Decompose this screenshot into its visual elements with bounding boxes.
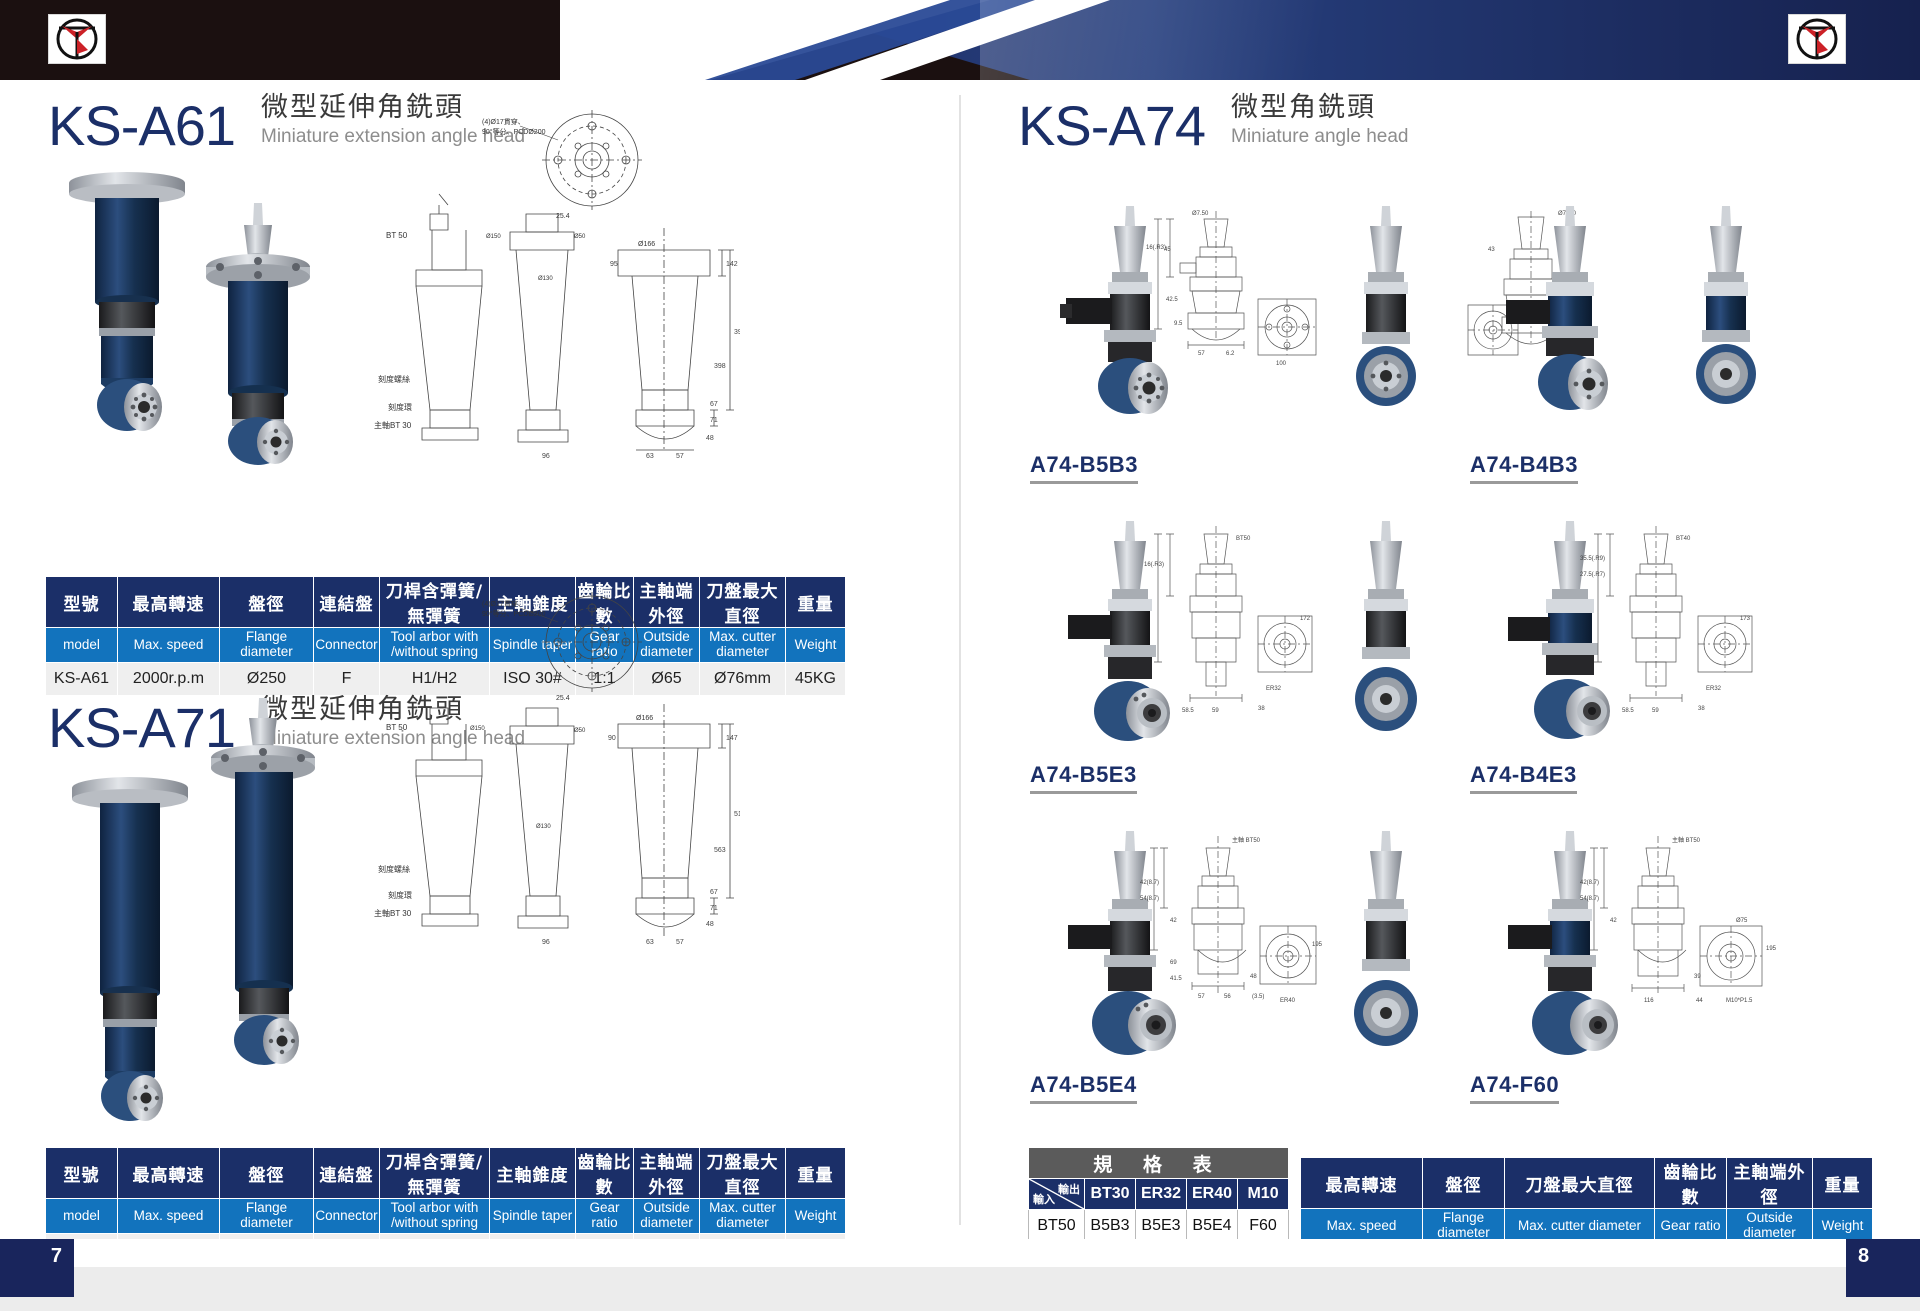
spec-value: 45KG xyxy=(786,663,846,696)
svg-text:90°等分、PCDØ200: 90°等分、PCDØ200 xyxy=(482,127,546,136)
spec-header-cn: 盤徑 xyxy=(220,577,314,628)
svg-text:16(.R3): 16(.R3) xyxy=(1144,562,1164,568)
spec-header-en: Spindle taper xyxy=(490,1199,576,1234)
spec-header-cn: 盤徑 xyxy=(220,1148,314,1199)
svg-text:563: 563 xyxy=(714,847,726,854)
svg-text:71: 71 xyxy=(710,905,718,912)
svg-text:38: 38 xyxy=(1698,706,1705,712)
page-divider xyxy=(959,95,961,1225)
svg-text:67: 67 xyxy=(710,889,718,896)
svg-text:刻度螺絲: 刻度螺絲 xyxy=(378,374,410,384)
spec-header-cn: 最高轉速 xyxy=(118,1148,220,1199)
svg-text:BT 50: BT 50 xyxy=(386,231,408,240)
svg-text:主軸 BT50: 主軸 BT50 xyxy=(1232,836,1261,844)
variant-label-a74-b5b3: A74-B5B3 xyxy=(1030,452,1138,484)
svg-text:27.5(.R7): 27.5(.R7) xyxy=(1580,572,1605,578)
spec-header-cn: 重量 xyxy=(786,577,846,628)
svg-text:Ø50: Ø50 xyxy=(574,234,586,240)
svg-text:67: 67 xyxy=(710,401,718,408)
spec-header-cn: 主軸錐度 xyxy=(490,1148,576,1199)
svg-text:主軸BT 30: 主軸BT 30 xyxy=(374,420,412,430)
technical-drawing-a71: (4)Ø17貫穿、 90°等分、PCDØ200 25.4 BT 50 Ø150 … xyxy=(370,590,740,950)
svg-text:Ø166: Ø166 xyxy=(636,715,653,722)
svg-text:54(8.7): 54(8.7) xyxy=(1140,896,1159,902)
matrix-col-header: ER40 xyxy=(1187,1179,1238,1210)
spec-header-cn-row: 最高轉速 盤徑 刀盤最大直徑 齒輪比數 主軸端外徑 重量 xyxy=(1301,1158,1873,1209)
spec-header-cn: 連結盤 xyxy=(314,1148,380,1199)
svg-text:116: 116 xyxy=(1644,998,1654,1004)
svg-text:195: 195 xyxy=(1312,942,1323,948)
spec-header-en: Flange diameter xyxy=(220,628,314,663)
svg-text:ER32: ER32 xyxy=(1706,686,1722,692)
svg-text:42.5: 42.5 xyxy=(1166,297,1178,303)
svg-text:BT50: BT50 xyxy=(1236,536,1251,542)
spec-header-cn: 最高轉速 xyxy=(118,577,220,628)
svg-text:515: 515 xyxy=(734,811,740,818)
svg-text:25.4: 25.4 xyxy=(556,695,570,702)
svg-text:96: 96 xyxy=(542,453,550,460)
svg-text:71: 71 xyxy=(710,417,718,424)
page-number-right: 8 xyxy=(1846,1239,1920,1297)
matrix-col-header: ER32 xyxy=(1136,1179,1187,1210)
spec-header-cn: 刀盤最大直徑 xyxy=(700,1148,786,1199)
svg-text:Ø166: Ø166 xyxy=(638,241,655,248)
matrix-title: 規 格 表 xyxy=(1029,1148,1289,1179)
spec-header-en: Weight xyxy=(786,628,846,663)
variant-label-a74-b5e3: A74-B5E3 xyxy=(1030,762,1137,794)
svg-text:95: 95 xyxy=(610,261,618,268)
spec-header-en: model xyxy=(46,1199,118,1234)
svg-text:48: 48 xyxy=(706,921,714,928)
footer-strip xyxy=(0,1267,1920,1311)
svg-text:(3.5): (3.5) xyxy=(1252,994,1264,1000)
variant-label-a74-f60: A74-F60 xyxy=(1470,1072,1559,1104)
svg-text:57: 57 xyxy=(1198,351,1205,357)
product-photo-a74-b5e4-side xyxy=(1330,825,1440,1070)
svg-text:172: 172 xyxy=(1300,616,1311,622)
svg-text:Ø150: Ø150 xyxy=(486,234,501,240)
svg-text:ER40: ER40 xyxy=(1280,998,1296,1004)
spec-header-en: Max. cutter diameter xyxy=(700,1199,786,1234)
variant-label-a74-b5e4: A74-B5E4 xyxy=(1030,1072,1137,1104)
spec-header-cn: 型號 xyxy=(46,1148,118,1199)
spec-header-en: Max. speed xyxy=(118,628,220,663)
header-gloss xyxy=(980,0,1600,80)
svg-text:63: 63 xyxy=(646,453,654,460)
variant-label-a74-b4b3: A74-B4B3 xyxy=(1470,452,1578,484)
spec-header-en: Outside diameter xyxy=(634,1199,700,1234)
svg-text:195: 195 xyxy=(1766,946,1777,952)
product-code: KS-A74 xyxy=(1018,98,1205,154)
spec-header-en: Flange diameter xyxy=(220,1199,314,1234)
matrix-cell: F60 xyxy=(1238,1210,1289,1242)
svg-text:主軸 BT50: 主軸 BT50 xyxy=(1672,836,1701,844)
svg-text:54(8.7): 54(8.7) xyxy=(1580,896,1599,902)
spec-header-en-row: model Max. speed Flange diameter Connect… xyxy=(46,1199,846,1234)
matrix-cell: B5B3 xyxy=(1085,1210,1136,1242)
svg-text:(4)Ø17貫穿、: (4)Ø17貫穿、 xyxy=(482,117,525,126)
matrix-col-header: M10 xyxy=(1238,1179,1289,1210)
spec-header-cn: 齒輪比數 xyxy=(576,1148,634,1199)
matrix-corner-out: 輸出 xyxy=(1058,1181,1080,1197)
spec-header-en: Gear ratio xyxy=(576,1199,634,1234)
spec-header-cn: 齒輪比數 xyxy=(1655,1158,1727,1209)
product-photo-a74-b5b3-side xyxy=(1330,200,1440,435)
product-photo-a71-angled xyxy=(185,690,350,1110)
spec-value: KS-A61 xyxy=(46,663,118,696)
svg-text:63: 63 xyxy=(646,939,654,946)
spec-header-cn: 刀桿含彈簧/無彈簧 xyxy=(380,1148,490,1199)
svg-text:ER32: ER32 xyxy=(1266,686,1282,692)
matrix-corner-cell: 輸出 輸入 xyxy=(1029,1179,1085,1210)
svg-text:48: 48 xyxy=(706,435,714,442)
spec-header-cn: 主軸端外徑 xyxy=(634,1148,700,1199)
company-logo-icon xyxy=(52,16,102,62)
svg-text:42: 42 xyxy=(1610,918,1617,924)
svg-text:57: 57 xyxy=(676,939,684,946)
matrix-cell: B5E3 xyxy=(1136,1210,1187,1242)
svg-text:Ø130: Ø130 xyxy=(536,824,551,830)
svg-text:56: 56 xyxy=(1224,994,1231,1000)
svg-text:(4)Ø17貫穿、: (4)Ø17貫穿、 xyxy=(482,599,525,608)
spec-header-en: Max. speed xyxy=(118,1199,220,1234)
svg-text:59: 59 xyxy=(1212,708,1219,714)
svg-text:38: 38 xyxy=(1258,706,1265,712)
company-logo-left xyxy=(48,14,106,64)
svg-text:58.5: 58.5 xyxy=(1622,708,1634,714)
spec-header-en: Tool arbor with /without spring xyxy=(380,1199,490,1234)
svg-text:69: 69 xyxy=(1170,960,1177,966)
svg-text:BT 50: BT 50 xyxy=(386,723,408,732)
svg-text:刻度螺絲: 刻度螺絲 xyxy=(378,864,410,874)
svg-text:Ø75: Ø75 xyxy=(1736,918,1748,924)
svg-text:刻度環: 刻度環 xyxy=(388,402,412,412)
spec-header-en: Weight xyxy=(786,1199,846,1234)
svg-text:42: 42 xyxy=(1170,918,1177,924)
svg-text:142: 142 xyxy=(726,261,738,268)
svg-text:398: 398 xyxy=(714,363,726,370)
svg-text:9.5: 9.5 xyxy=(1174,321,1183,327)
spec-header-cn: 盤徑 xyxy=(1423,1158,1505,1209)
spec-header-cn: 主軸端外徑 xyxy=(1727,1158,1813,1209)
svg-text:48: 48 xyxy=(1250,974,1257,980)
svg-text:57: 57 xyxy=(676,453,684,460)
svg-text:39: 39 xyxy=(1694,974,1701,980)
svg-text:45: 45 xyxy=(1164,247,1171,253)
svg-text:44: 44 xyxy=(1696,998,1703,1004)
header-band xyxy=(0,0,1920,80)
svg-text:42(8.7): 42(8.7) xyxy=(1580,880,1599,886)
company-logo-icon xyxy=(1792,16,1842,62)
svg-text:Ø150: Ø150 xyxy=(470,726,485,732)
product-heading-ks-a74: KS-A74 微型角銑頭 Miniature angle head xyxy=(1018,92,1408,154)
svg-text:96: 96 xyxy=(542,939,550,946)
spec-header-cn: 重量 xyxy=(786,1148,846,1199)
spec-header-cn: 最高轉速 xyxy=(1301,1158,1423,1209)
svg-text:59: 59 xyxy=(1652,708,1659,714)
spec-header-cn: 重量 xyxy=(1813,1158,1873,1209)
svg-text:25.4: 25.4 xyxy=(556,213,570,220)
product-photo-a74-b4b3 xyxy=(1470,200,1660,435)
technical-drawing-a74-b5e4: 主軸 BT50 42(8.7) 54(8.7) 42 69 41.5 48 57… xyxy=(1140,830,1330,1075)
svg-text:390: 390 xyxy=(734,329,740,336)
svg-text:Ø130: Ø130 xyxy=(538,276,553,282)
footer-bar: 7 8 xyxy=(0,1239,1920,1311)
spec-header-cn-row: 型號 最高轉速 盤徑 連結盤 刀桿含彈簧/無彈簧 主軸錐度 齒輪比數 主軸端外徑… xyxy=(46,1148,846,1199)
svg-text:Ø7.50: Ø7.50 xyxy=(1192,211,1209,217)
variant-label-a74-b4e3: A74-B4E3 xyxy=(1470,762,1577,794)
table-row: BT50 B5B3 B5E3 B5E4 F60 xyxy=(1029,1210,1289,1242)
product-name-en: Miniature angle head xyxy=(1231,125,1408,150)
svg-text:BT40: BT40 xyxy=(1676,536,1691,542)
svg-text:6.2: 6.2 xyxy=(1226,351,1235,357)
svg-text:173: 173 xyxy=(1740,616,1751,622)
matrix-row-label: BT50 xyxy=(1029,1210,1085,1242)
product-photo-a61-angled xyxy=(180,195,345,465)
svg-text:35.5(.R9): 35.5(.R9) xyxy=(1580,556,1605,562)
technical-drawing-a61: (4)Ø17貫穿、 90°等分、PCDØ200 25.4 BT 50 Ø150 … xyxy=(370,110,740,460)
svg-text:Ø50: Ø50 xyxy=(574,728,586,734)
product-name-cn: 微型角銑頭 xyxy=(1231,92,1408,123)
technical-drawing-a74-b5b3: Ø7.50 16(.R3) 45 42.5 9.5 57 6.2 100 xyxy=(1140,205,1330,435)
spec-header-en: model xyxy=(46,628,118,663)
page-number-left: 7 xyxy=(0,1239,74,1297)
svg-text:41.5: 41.5 xyxy=(1170,976,1182,982)
product-code: KS-A61 xyxy=(48,98,235,154)
matrix-col-header: BT30 xyxy=(1085,1179,1136,1210)
matrix-corner-in: 輸入 xyxy=(1033,1191,1055,1207)
matrix-cell: B5E4 xyxy=(1187,1210,1238,1242)
svg-text:90°等分、PCDØ200: 90°等分、PCDØ200 xyxy=(482,609,546,618)
svg-text:57: 57 xyxy=(1198,994,1205,1000)
spec-header-cn: 刀盤最大直徑 xyxy=(1505,1158,1655,1209)
svg-text:42(8.7): 42(8.7) xyxy=(1140,880,1159,886)
svg-text:16(.R3): 16(.R3) xyxy=(1146,245,1166,251)
svg-text:90: 90 xyxy=(608,735,616,742)
technical-drawing-a74-f60: 主軸 BT50 42(8.7) 54(8.7) 42 195 116 44 Ø7… xyxy=(1580,830,1780,1075)
svg-text:58.5: 58.5 xyxy=(1182,708,1194,714)
svg-text:主軸BT 30: 主軸BT 30 xyxy=(374,908,412,918)
spec-header-en: Connector xyxy=(314,1199,380,1234)
product-photo-a74-b5e3-side xyxy=(1330,515,1440,760)
technical-drawing-a74-b4e3: BT40 35.5(.R9) 27.5(.R7) ER32 173 58.5 5… xyxy=(1580,520,1770,765)
svg-text:147: 147 xyxy=(726,735,738,742)
spec-header-cn: 型號 xyxy=(46,577,118,628)
technical-drawing-a74-b5e3: BT50 16(.R3) ER32 172 58.5 59 38 xyxy=(1140,520,1330,765)
svg-text:M10*P1.5: M10*P1.5 xyxy=(1726,998,1753,1004)
product-photo-a74-b4b3-side xyxy=(1670,200,1780,435)
svg-text:刻度環: 刻度環 xyxy=(388,890,412,900)
svg-text:100: 100 xyxy=(1276,361,1287,367)
company-logo-right xyxy=(1788,14,1846,64)
